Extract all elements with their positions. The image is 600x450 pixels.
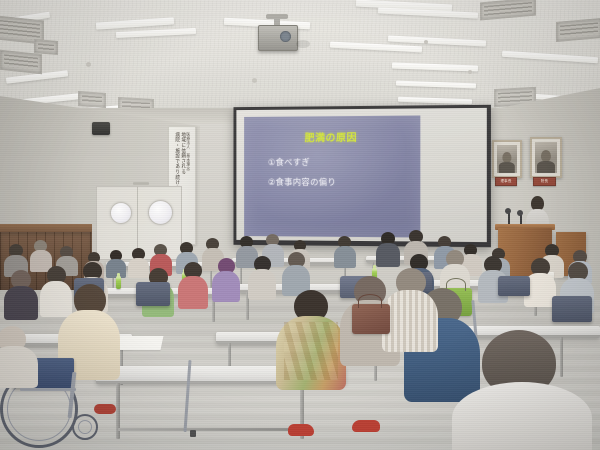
attendee: [282, 252, 310, 294]
attendee: [376, 232, 400, 266]
attendee-torso: [0, 346, 38, 388]
chair[interactable]: [498, 276, 530, 296]
portrait-photo: [535, 142, 557, 173]
portrait-nameplate-text: 院長: [534, 178, 555, 185]
door-handle[interactable]: [133, 182, 149, 185]
projector-lens: [280, 31, 291, 42]
microphone-icon: [505, 208, 511, 214]
attendee-shirt-pattern: [284, 322, 338, 380]
attendee-front: [382, 268, 438, 348]
wheelchair-caster: [72, 414, 98, 440]
wheelchair-frame: [20, 388, 76, 391]
portrait-body: [537, 161, 555, 173]
attendee: [178, 262, 208, 306]
table-crossbar: [118, 428, 304, 431]
shoe: [288, 424, 314, 436]
attendee-shoulders: [452, 382, 592, 450]
projector-shadow: [296, 40, 310, 48]
handbag-strap: [358, 294, 382, 308]
portrait-photo: [497, 145, 517, 173]
ceiling-sensor: [252, 78, 257, 83]
framed-portrait: [492, 140, 522, 178]
door-porthole-icon: [110, 202, 132, 224]
ceiling-sensor: [424, 40, 428, 44]
projection-screen: 肥満の原因 ①食べすぎ ②食事内容の偏り: [234, 105, 491, 247]
attendee: [106, 250, 126, 276]
portrait-nameplate: 理事長: [495, 177, 517, 186]
attendee-torso: [382, 290, 438, 352]
attendee-torso: [212, 271, 240, 302]
handbag: [352, 304, 390, 334]
air-vent: [556, 18, 600, 42]
microphone-icon: [517, 210, 523, 216]
wall-speaker: [92, 122, 110, 135]
chair[interactable]: [552, 296, 592, 322]
slide-title: 肥満の原因: [244, 129, 420, 145]
attendee-torso: [178, 276, 208, 309]
attendee-torso: [106, 259, 126, 278]
air-vent: [34, 39, 58, 55]
shoe: [94, 404, 116, 414]
chair[interactable]: [136, 282, 170, 306]
attendee-torso: [376, 243, 400, 267]
portrait-body: [499, 162, 515, 173]
attendee: [4, 270, 38, 316]
framed-portrait: [530, 137, 562, 178]
air-vent: [0, 50, 42, 74]
attendee-torso: [248, 269, 276, 300]
cane-tip: [190, 430, 196, 437]
attendee-wheelchair: [0, 326, 38, 382]
portrait-nameplate: 院長: [533, 177, 556, 186]
slide-bullet-2: ②食事内容の偏り: [268, 176, 336, 188]
ceiling-sensor: [86, 62, 91, 67]
slide-bullet-1: ①食べすぎ: [268, 156, 310, 168]
banner-heading: 医療法人 基本理念: [186, 132, 190, 244]
attendee: [334, 236, 356, 266]
portrait-nameplate-text: 理事長: [496, 178, 516, 185]
attendee-foreground: [452, 330, 592, 450]
attendee-torso: [334, 246, 356, 268]
projector: [258, 25, 298, 51]
shoe: [352, 420, 380, 432]
attendee-torso: [4, 286, 38, 320]
seminar-room-photo: 医療法人 基本理念 地域に信頼される 病院・施設であり続けます 理事長 院長: [0, 0, 600, 450]
door-porthole-icon: [148, 200, 173, 225]
attendee: [212, 258, 240, 300]
projected-slide: 肥満の原因 ①食べすぎ ②食事内容の偏り: [244, 115, 420, 237]
air-vent: [78, 91, 106, 108]
screen-surface: 肥満の原因 ①食べすぎ ②食事内容の偏り: [236, 108, 486, 242]
ceiling-sensor: [468, 70, 472, 74]
attendee: [248, 256, 276, 298]
